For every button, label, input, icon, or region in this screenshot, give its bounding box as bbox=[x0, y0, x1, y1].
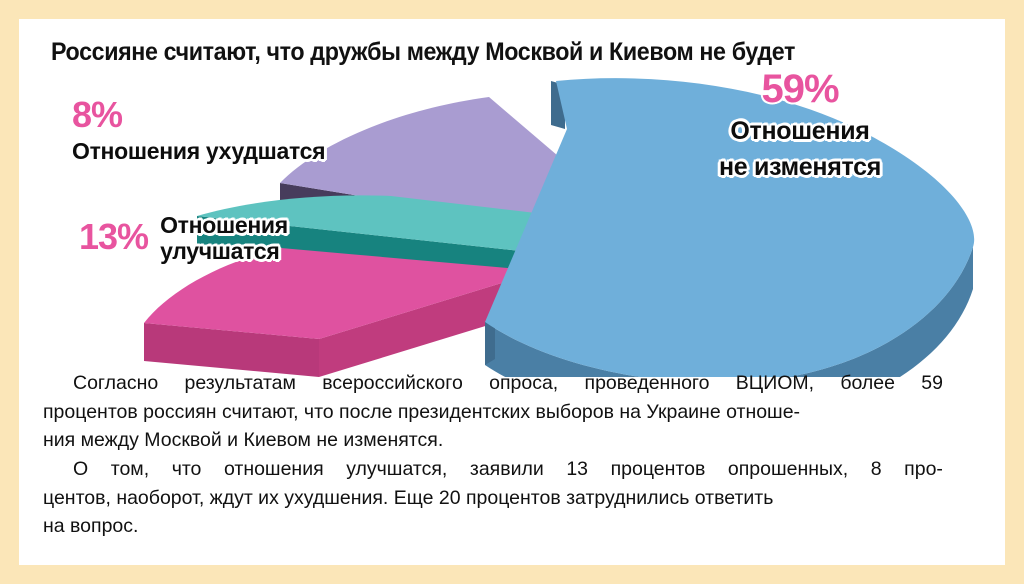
callout-worsen: 8% Отношения ухудшатся bbox=[72, 97, 325, 165]
body-p2-line3: на вопрос. bbox=[43, 512, 943, 541]
body-p2-line1-w3: что bbox=[172, 455, 202, 484]
body-paragraph-1: Согласно результатам всероссийского опро… bbox=[43, 369, 943, 455]
callout-worsen-percent: 8% bbox=[72, 97, 325, 133]
callout-unchanged-percent: 59% bbox=[685, 69, 915, 109]
body-p2-line1-w6: заявили bbox=[470, 455, 544, 484]
body-p1-line1-w3: всероссийского bbox=[322, 369, 463, 398]
body-p1-line1-w4: опроса, bbox=[489, 369, 558, 398]
callout-improve-label-line2: улучшатся bbox=[160, 239, 288, 265]
body-p2-line1-w10: 8 bbox=[871, 455, 882, 484]
body-copy: Согласно результатам всероссийского опро… bbox=[43, 369, 943, 541]
body-p1-line1-w7: более bbox=[840, 369, 895, 398]
callout-improve-label: Отношения улучшатся bbox=[160, 213, 288, 265]
body-p2-line1-w4: отношения bbox=[224, 455, 324, 484]
body-p2-line2: центов, наоборот, ждут их ухудшения. Еще… bbox=[43, 484, 943, 513]
callout-unchanged-label-line2: не изменятся bbox=[685, 153, 915, 181]
callout-unchanged: 59% Отношения не изменятся bbox=[685, 69, 915, 181]
body-p2-line1-w1: О bbox=[43, 455, 88, 484]
body-p1-line1-w8: 59 bbox=[921, 369, 943, 398]
callout-worsen-label: Отношения ухудшатся bbox=[72, 139, 325, 165]
body-p2-line1-w9: опрошенных, bbox=[728, 455, 848, 484]
body-p2-line1-w5: улучшатся, bbox=[346, 455, 447, 484]
callout-unchanged-label-line1: Отношения bbox=[685, 117, 915, 145]
body-p1-line3: ния между Москвой и Киевом не изменятся. bbox=[43, 426, 943, 455]
infographic-canvas: Россияне считают, что дружбы между Москв… bbox=[19, 19, 1005, 565]
body-p1-line1-w5: проведенного bbox=[585, 369, 710, 398]
body-p1-line2: процентов россиян считают, что после пре… bbox=[43, 398, 943, 427]
body-p2-line1-w7: 13 bbox=[566, 455, 588, 484]
body-p2-line1-w8: процентов bbox=[611, 455, 706, 484]
infographic-root: Россияне считают, что дружбы между Москв… bbox=[0, 0, 1024, 584]
body-p2-line1-w11: про- bbox=[904, 455, 943, 484]
body-p2-line1-w2: том, bbox=[111, 455, 149, 484]
pie-slice-improve bbox=[144, 248, 541, 377]
body-p1-line1: Согласно результатам всероссийского опро… bbox=[43, 369, 943, 398]
callout-improve-percent: 13% bbox=[79, 213, 148, 255]
body-p1-line1-w6: ВЦИОМ, bbox=[736, 369, 814, 398]
body-p1-line1-w1: Согласно bbox=[43, 369, 158, 398]
body-p2-line1: О том, что отношения улучшатся, заявили … bbox=[43, 455, 943, 484]
callout-improve-label-line1: Отношения bbox=[160, 213, 288, 239]
body-paragraph-2: О том, что отношения улучшатся, заявили … bbox=[43, 455, 943, 541]
callout-improve: 13% Отношения улучшатся bbox=[79, 213, 288, 265]
page-title: Россияне считают, что дружбы между Москв… bbox=[51, 39, 869, 67]
body-p1-line1-w2: результатам bbox=[185, 369, 296, 398]
